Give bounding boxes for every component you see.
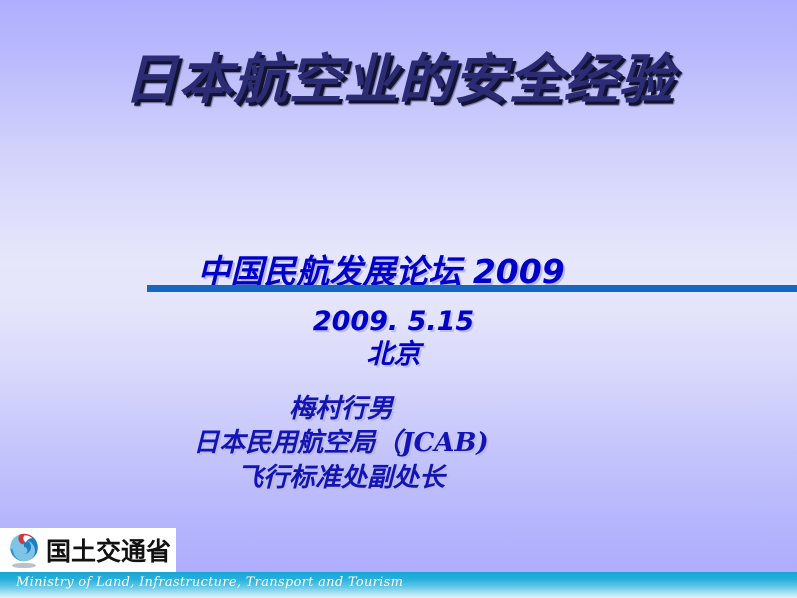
presenter-organization: 日本民用航空局（JCAB) bbox=[0, 426, 682, 460]
event-date: 2009. 5.15 bbox=[0, 306, 787, 338]
presentation-slide: 日本航空业的安全经验 中国民航发展论坛 2009 2009. 5.15 北京 梅… bbox=[0, 0, 797, 598]
ministry-logo-plate: 国土交通省 bbox=[0, 528, 176, 572]
presenter-role: 飞行标准处副处长 bbox=[0, 461, 682, 495]
slide-title: 日本航空业的安全经验 bbox=[0, 52, 797, 109]
presenter-organization-abbr: JCAB) bbox=[401, 428, 488, 458]
mlit-swirl-icon bbox=[4, 530, 44, 570]
event-city: 北京 bbox=[0, 338, 787, 372]
footer-band: Ministry of Land, Infrastructure, Transp… bbox=[0, 572, 797, 598]
title-divider-rule bbox=[147, 285, 797, 292]
footer-ministry-name: Ministry of Land, Infrastructure, Transp… bbox=[16, 575, 403, 590]
presenter-block: 梅村行男 日本民用航空局（JCAB) 飞行标准处副处长 bbox=[0, 392, 797, 495]
presenter-name: 梅村行男 bbox=[0, 392, 682, 426]
ministry-logo-text: 国土交通省 bbox=[46, 532, 171, 568]
presenter-organization-cn: 日本民用航空局（ bbox=[193, 428, 401, 458]
event-meta-block: 2009. 5.15 北京 bbox=[0, 306, 797, 372]
